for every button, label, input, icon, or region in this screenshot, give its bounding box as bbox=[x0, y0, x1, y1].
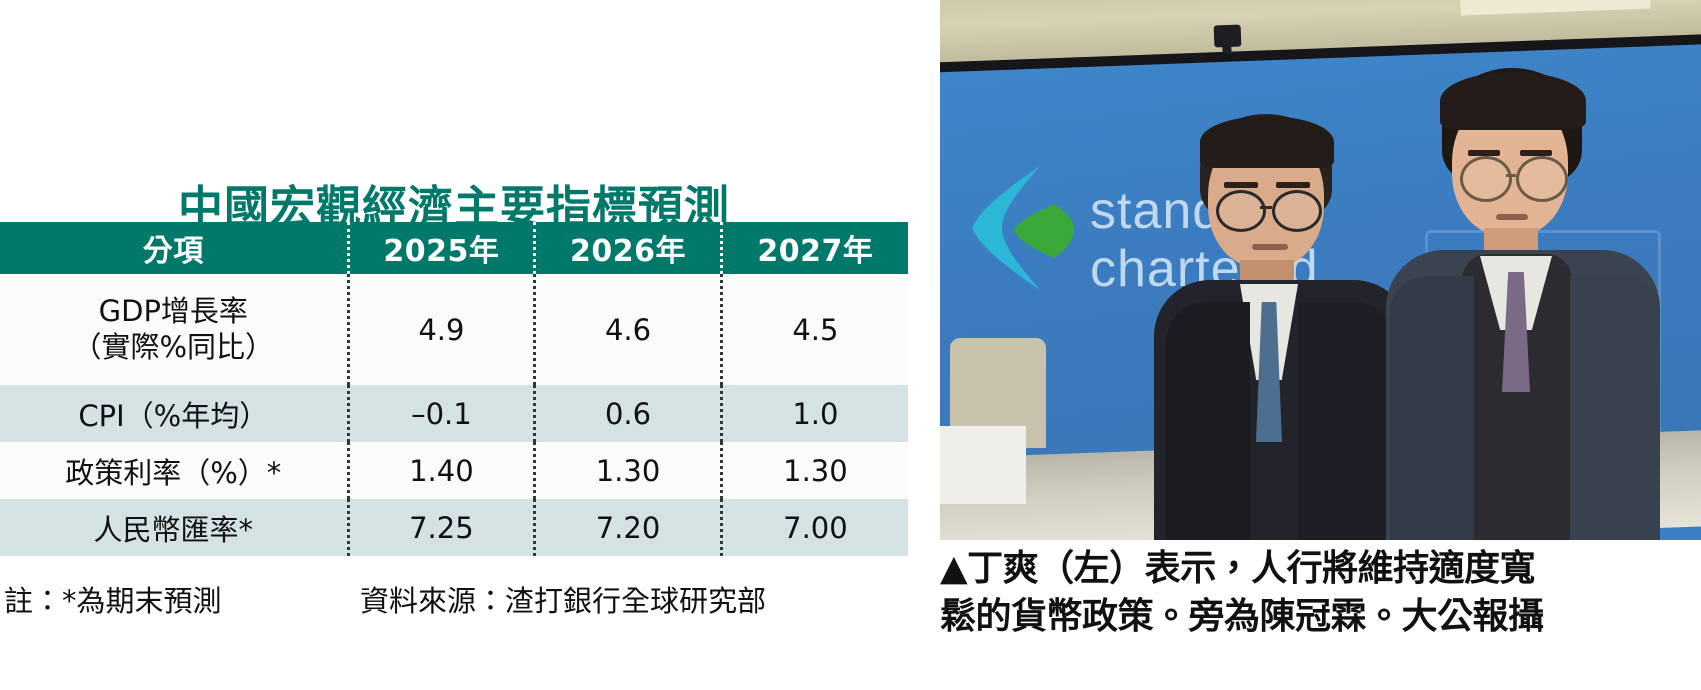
row-label-gdp-line1: GDP增長率 bbox=[0, 294, 347, 329]
column-header-2026: 2026年 bbox=[535, 222, 722, 274]
source-credit: 資料來源：渣打銀行全球研究部 bbox=[348, 578, 920, 620]
row-label-gdp-line2: （實際%同比） bbox=[0, 330, 347, 365]
table-header: 分項 2025年 2026年 2027年 bbox=[0, 222, 908, 274]
row-label-gdp: GDP增長率 （實際%同比） bbox=[0, 274, 348, 385]
column-header-2027: 2027年 bbox=[721, 222, 908, 274]
row-label-cpi: CPI（%年均） bbox=[0, 385, 348, 442]
cell-cpi-2027: 1.0 bbox=[721, 385, 908, 442]
cell-fx-2026: 7.20 bbox=[535, 499, 722, 556]
footnote: 註：*為期末預測 bbox=[0, 578, 348, 620]
standard-chartered-logo-icon bbox=[962, 158, 1082, 298]
person-left bbox=[1148, 112, 1416, 540]
person-right bbox=[1380, 68, 1666, 540]
table-body: GDP增長率 （實際%同比） 4.9 4.6 4.5 CPI（%年均） –0.1… bbox=[0, 274, 908, 556]
press-conference-photo: standard chartered bbox=[940, 0, 1701, 540]
table-row: 人民幣匯率* 7.25 7.20 7.00 bbox=[0, 499, 908, 556]
column-header-item: 分項 bbox=[0, 222, 348, 274]
infographic-page: 中國宏觀經濟主要指標預測 分項 2025年 2026年 2027年 GDP增長率 bbox=[0, 0, 1701, 690]
table-row: CPI（%年均） –0.1 0.6 1.0 bbox=[0, 385, 908, 442]
row-label-fx: 人民幣匯率* bbox=[0, 499, 348, 556]
table-footer: 註：*為期末預測 資料來源：渣打銀行全球研究部 bbox=[0, 569, 920, 629]
cell-gdp-2025: 4.9 bbox=[348, 274, 535, 385]
cell-cpi-2025: –0.1 bbox=[348, 385, 535, 442]
column-header-2025: 2025年 bbox=[348, 222, 535, 274]
macro-forecast-infographic: 中國宏觀經濟主要指標預測 分項 2025年 2026年 2027年 GDP增長率 bbox=[0, 0, 920, 690]
cell-policy-rate-2025: 1.40 bbox=[348, 442, 535, 499]
cell-policy-rate-2026: 1.30 bbox=[535, 442, 722, 499]
table-row: GDP增長率 （實際%同比） 4.9 4.6 4.5 bbox=[0, 274, 908, 385]
photo-block: standard chartered bbox=[940, 0, 1701, 690]
cell-cpi-2026: 0.6 bbox=[535, 385, 722, 442]
ceiling-camera-icon bbox=[1214, 25, 1242, 48]
cell-gdp-2027: 4.5 bbox=[721, 274, 908, 385]
cell-policy-rate-2027: 1.30 bbox=[721, 442, 908, 499]
photo-caption-line1: ▲丁爽（左）表示，人行將維持適度寬 bbox=[940, 545, 1701, 593]
cell-fx-2025: 7.25 bbox=[348, 499, 535, 556]
photo-caption: ▲丁爽（左）表示，人行將維持適度寬 鬆的貨幣政策。旁為陳冠霖。大公報攝 bbox=[940, 545, 1701, 665]
cell-gdp-2026: 4.6 bbox=[535, 274, 722, 385]
cell-fx-2027: 7.00 bbox=[721, 499, 908, 556]
photo-caption-line2: 鬆的貨幣政策。旁為陳冠霖。大公報攝 bbox=[940, 593, 1701, 641]
macro-forecast-table: 分項 2025年 2026年 2027年 GDP增長率 （實際%同比） 4.9 … bbox=[0, 222, 908, 556]
table-header-row: 分項 2025年 2026年 2027年 bbox=[0, 222, 908, 274]
side-table bbox=[940, 426, 1026, 504]
row-label-policy-rate: 政策利率（%）* bbox=[0, 442, 348, 499]
table-row: 政策利率（%）* 1.40 1.30 1.30 bbox=[0, 442, 908, 499]
